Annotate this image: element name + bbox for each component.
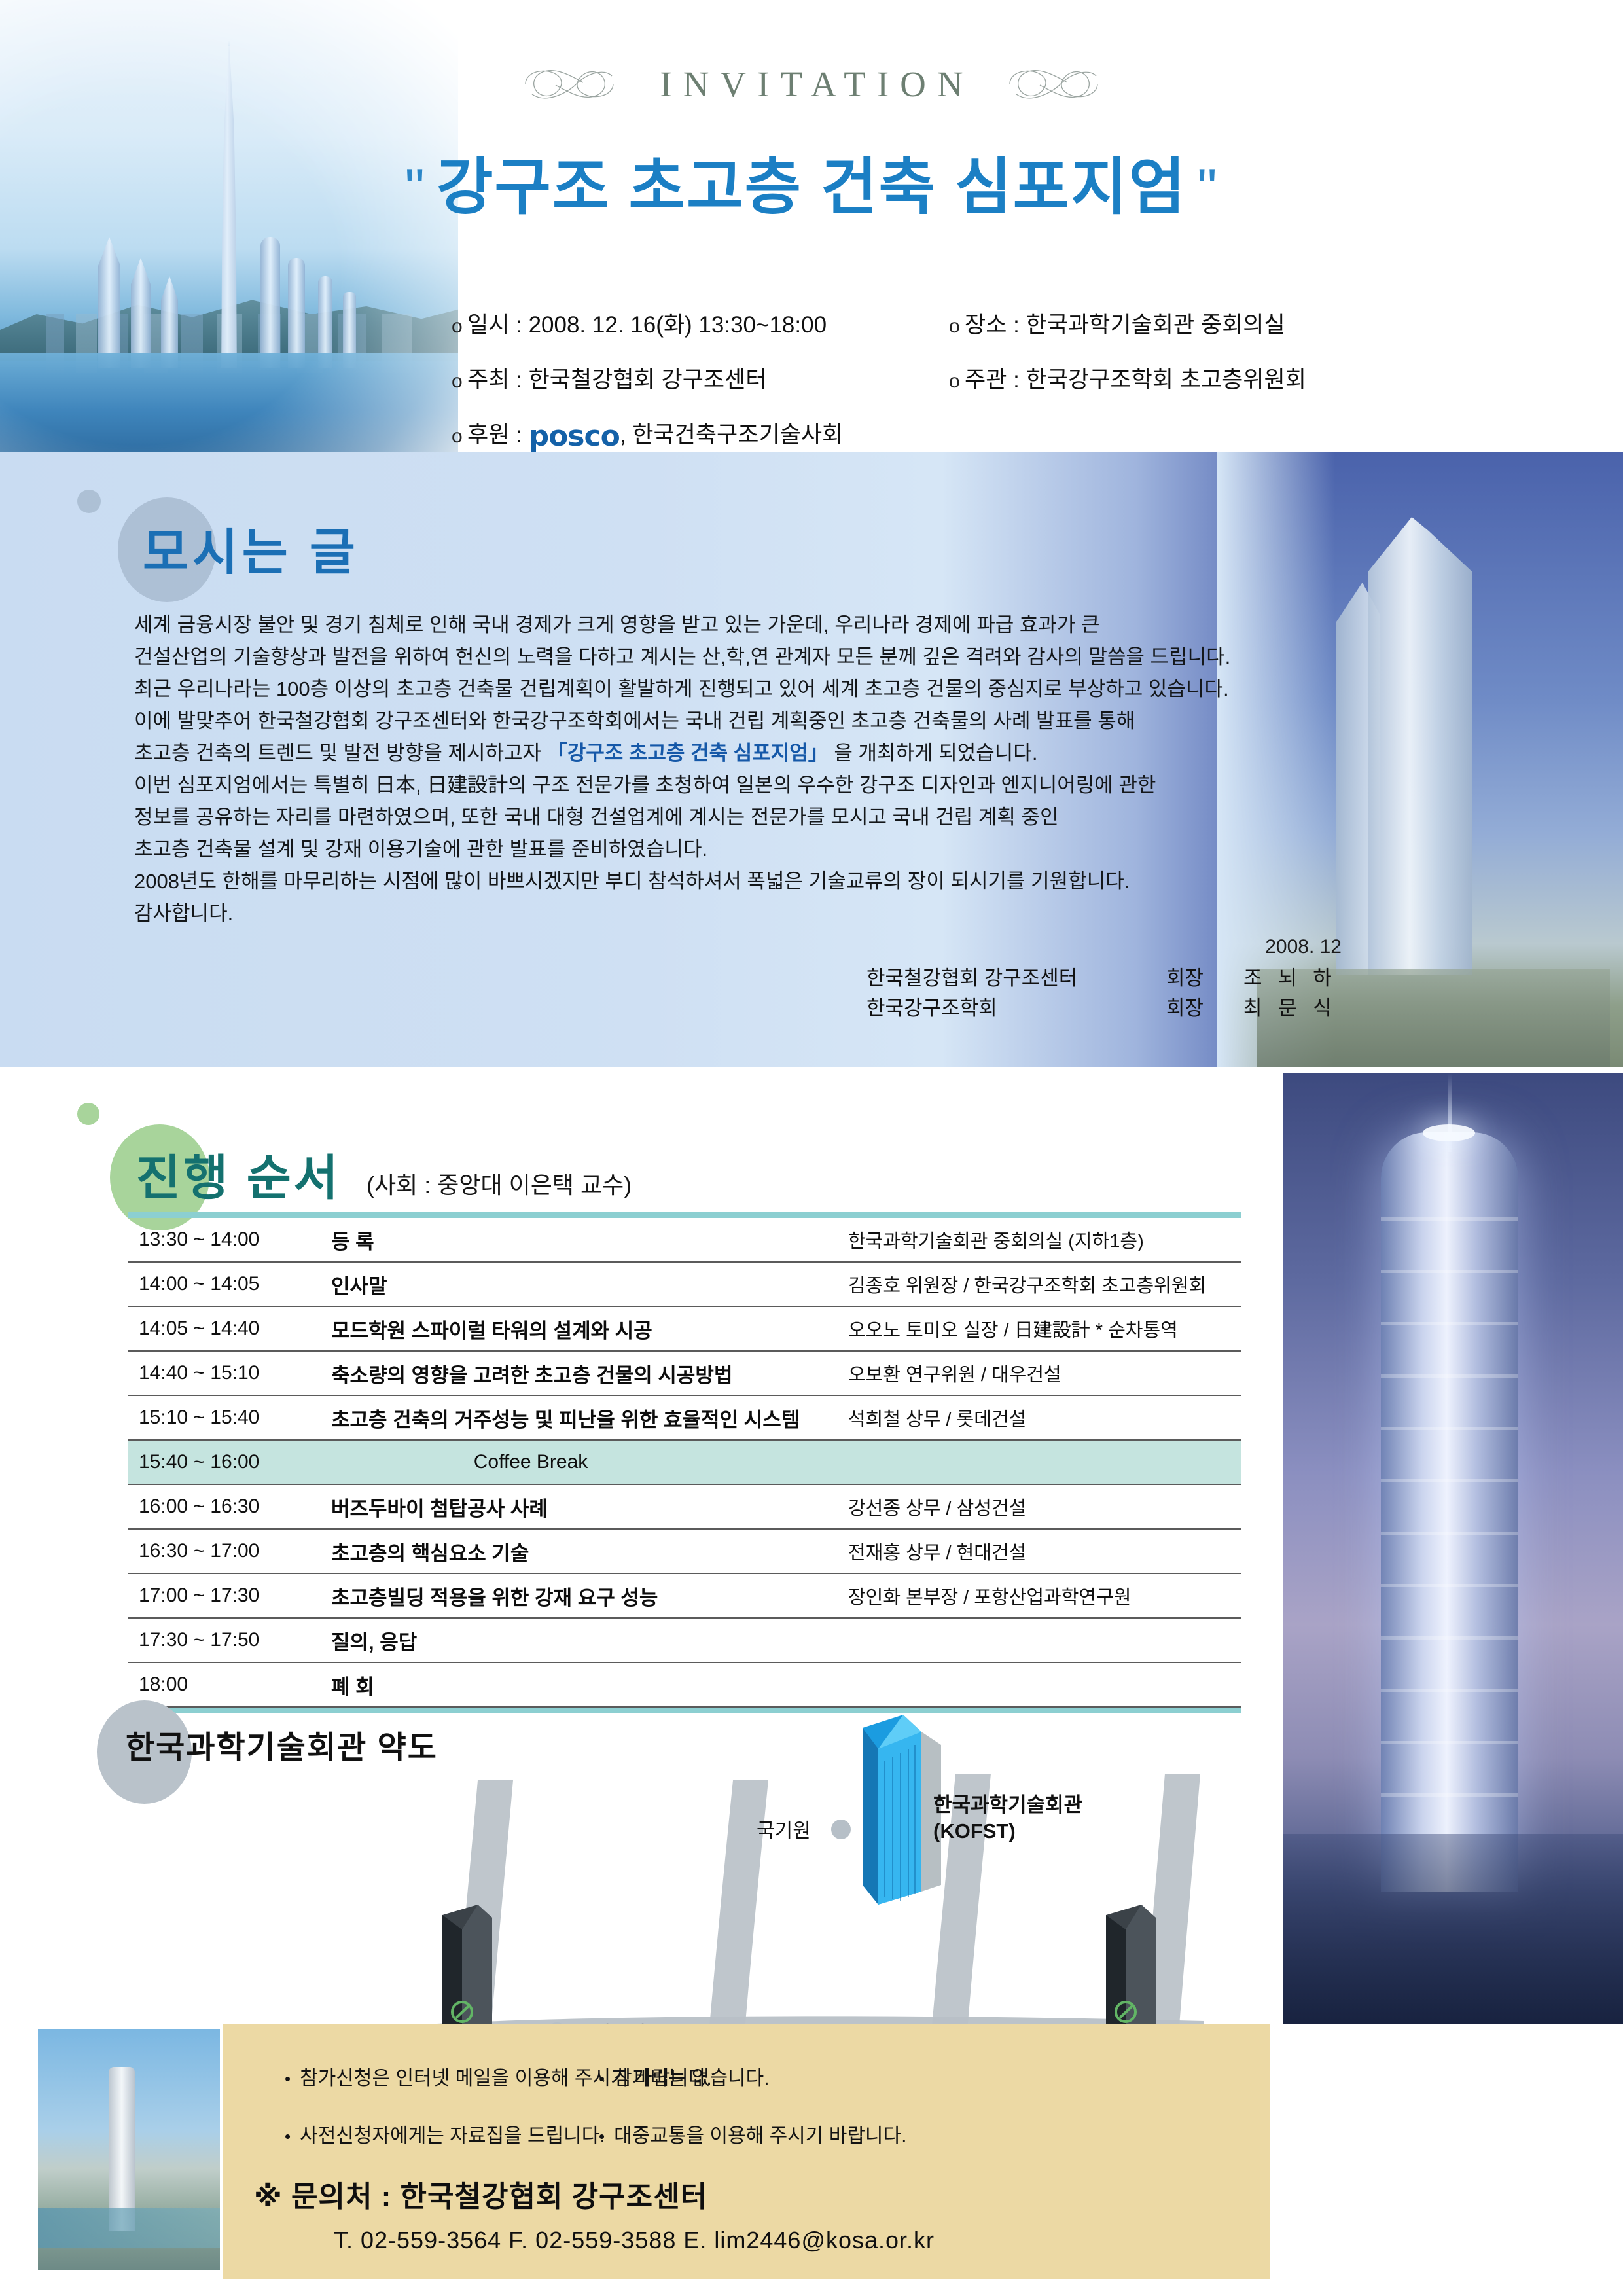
event-sponsor: ο후원 : posco, 한국건축구조기술사회 (452, 416, 843, 450)
event-info-row: ο후원 : posco, 한국건축구조기술사회 (452, 416, 1564, 450)
row-time: 15:40 ~ 16:00 (128, 1451, 331, 1473)
greeting-paragraph: 건설산업의 기술향상과 발전을 위하여 헌신의 노력을 다하고 계시는 산,학,… (134, 641, 1266, 673)
greeting-signature: 2008. 12 한국철강협회 강구조센터 회장 조 뇌 하 한국강구조학회 회… (866, 936, 1342, 1024)
table-row: 15:10 ~ 15:40 초고층 건축의 거주성능 및 피난을 위한 효율적인… (128, 1396, 1241, 1441)
event-datetime: ο일시 : 2008. 12. 16(화) 13:30~18:00 (452, 306, 949, 340)
program-dot-decor (77, 1103, 99, 1125)
symposium-name-highlight: 「강구조 초고층 건축 심포지엄」 (547, 742, 829, 764)
table-row-coffee-break: 15:40 ~ 16:00 Coffee Break (128, 1441, 1241, 1485)
row-time: 14:00 ~ 14:05 (128, 1273, 331, 1295)
invitation-word: INVITATION (649, 63, 974, 105)
footer-note-row: 참가신청은 인터넷 메일을 이용해 주시기 바랍니다. 참가비는 없습니다. (285, 2062, 1201, 2090)
event-host: ο주최 : 한국철강협회 강구조센터 (452, 361, 949, 395)
bullet-icon: ο (949, 370, 965, 393)
row-speaker: 김종호 위원장 / 한국강구조학회 초고층위원회 (848, 1270, 1241, 1298)
row-speaker: 한국과학기술회관 중회의실 (지하1층) (848, 1226, 1241, 1253)
contact-details: T. 02-559-3564 F. 02-559-3588 E. lim2446… (334, 2227, 935, 2254)
greeting-paragraph: 최근 우리나라는 100층 이상의 초고층 건축물 건립계획이 활발하게 진행되… (134, 673, 1266, 705)
title-open-quote: " (394, 158, 437, 221)
footer-note: 사전신청자에게는 자료집을 드립니다. (285, 2119, 599, 2148)
event-info-row: ο일시 : 2008. 12. 16(화) 13:30~18:00 ο장소 : … (452, 306, 1564, 340)
header-banner: INVITATION "강구조 초고층 건축 심포지엄" ο일시 : 2008.… (0, 0, 1623, 452)
posco-logo: posco (529, 420, 620, 452)
event-info-row: ο주최 : 한국철강협회 강구조센터 ο주관 : 한국강구조학회 초고층위원회 (452, 361, 1564, 395)
program-title: 진행 순서 (136, 1139, 341, 1209)
row-topic: 초고층의 핵심요소 기술 (331, 1537, 848, 1566)
title-close-quote: " (1186, 158, 1229, 221)
table-row: 14:00 ~ 14:05 인사말 김종호 위원장 / 한국강구조학회 초고층위… (128, 1263, 1241, 1307)
row-topic: 축소량의 영향을 고려한 초고층 건물의 시공방법 (331, 1359, 848, 1388)
row-topic: 모드학원 스파이럴 타워의 설계와 시공 (331, 1314, 848, 1344)
footer-info-box: 참가신청은 인터넷 메일을 이용해 주시기 바랍니다. 참가비는 없습니다. 사… (223, 2024, 1270, 2279)
row-speaker: 장인화 본부장 / 포항산업과학연구원 (848, 1582, 1241, 1609)
row-speaker: 오오노 토미오 실장 / 日建設計 * 순차통역 (848, 1315, 1241, 1342)
greeting-paragraph: 감사합니다. (134, 897, 1266, 929)
row-topic: 인사말 (331, 1270, 848, 1299)
page-title: "강구조 초고층 건축 심포지엄" (0, 137, 1623, 226)
footer-notes: 참가신청은 인터넷 메일을 이용해 주시기 바랍니다. 참가비는 없습니다. 사… (285, 2062, 1201, 2177)
table-row: 16:30 ~ 17:00 초고층의 핵심요소 기술 전재홍 상무 / 현대건설 (128, 1530, 1241, 1574)
event-organizer: ο주관 : 한국강구조학회 초고층위원회 (949, 361, 1306, 395)
event-venue: ο장소 : 한국과학기술회관 중회의실 (949, 306, 1285, 340)
greeting-dot-decor (77, 490, 101, 513)
row-topic: 초고층 건축의 거주성능 및 피난을 위한 효율적인 시스템 (331, 1403, 848, 1433)
bullet-icon: ο (452, 315, 467, 338)
row-time: 16:00 ~ 16:30 (128, 1496, 331, 1518)
row-topic: 초고층빌딩 적용을 위한 강재 요구 성능 (331, 1581, 848, 1611)
table-row: 14:05 ~ 14:40 모드학원 스파이럴 타워의 설계와 시공 오오노 토… (128, 1307, 1241, 1352)
table-row: 14:40 ~ 15:10 축소량의 영향을 고려한 초고층 건물의 시공방법 … (128, 1352, 1241, 1396)
map-label-kukkiwon: 국기원 (757, 1814, 811, 1843)
bullet-icon: ο (949, 315, 965, 338)
row-time: 16:30 ~ 17:00 (128, 1540, 331, 1562)
greeting-paragraph-highlight: 초고층 건축의 트렌드 및 발전 방향을 제시하고자 「강구조 초고층 건축 심… (134, 737, 1266, 769)
greeting-paragraph: 초고층 건축물 설계 및 강재 이용기술에 관한 발표를 준비하였습니다. (134, 833, 1266, 865)
row-topic: 등 록 (331, 1225, 848, 1255)
row-time: 17:00 ~ 17:30 (128, 1585, 331, 1607)
row-topic: 버즈두바이 첨탑공사 사례 (331, 1492, 848, 1522)
greeting-paragraph: 2008년도 한해를 마무리하는 시점에 많이 바쁘시겠지만 부디 참석하셔서 … (134, 865, 1266, 897)
greeting-body: 세계 금융시장 불안 및 경기 침체로 인해 국내 경제가 크게 영향을 받고 … (134, 609, 1266, 929)
greeting-title: 모시는 글 (143, 512, 359, 584)
table-row: 13:30 ~ 14:00 등 록 한국과학기술회관 중회의실 (지하1층) (128, 1218, 1241, 1263)
row-topic: Coffee Break (331, 1451, 848, 1473)
row-time: 14:05 ~ 14:40 (128, 1318, 331, 1340)
greeting-paragraph: 이에 발맞추어 한국철강협회 강구조센터와 한국강구조학회에서는 국내 건립 계… (134, 705, 1266, 737)
signature-line: 한국철강협회 강구조센터 회장 조 뇌 하 (866, 963, 1342, 994)
row-time: 13:30 ~ 14:00 (128, 1229, 331, 1251)
row-time: 14:40 ~ 15:10 (128, 1362, 331, 1384)
map-label-venue-line2: (KOFST) (933, 1820, 1016, 1843)
greeting-paragraph: 정보를 공유하는 자리를 마련하였으며, 또한 국내 대형 건설업계에 계시는 … (134, 801, 1266, 833)
invitation-heading: INVITATION (0, 60, 1623, 111)
row-speaker: 석희철 상무 / 롯데건설 (848, 1404, 1241, 1431)
table-row: 16:00 ~ 16:30 버즈두바이 첨탑공사 사례 강선종 상무 / 삼성건… (128, 1485, 1241, 1530)
map-dot-kukkiwon (831, 1820, 851, 1839)
row-time: 15:10 ~ 15:40 (128, 1407, 331, 1429)
footer-note: 참가신청은 인터넷 메일을 이용해 주시기 바랍니다. (285, 2062, 599, 2090)
map-label-venue-line1: 한국과학기술회관 (933, 1788, 1082, 1818)
row-speaker: 오보환 연구위원 / 대우건설 (848, 1359, 1241, 1387)
footer-note: 참가비는 없습니다. (599, 2062, 770, 2090)
flourish-left-icon (520, 60, 618, 107)
row-speaker: 전재홍 상무 / 현대건설 (848, 1537, 1241, 1565)
program-table: 13:30 ~ 14:00 등 록 한국과학기술회관 중회의실 (지하1층) 1… (128, 1212, 1241, 1713)
footer-note: 대중교통을 이용해 주시기 바랍니다. (599, 2119, 906, 2148)
kofst-building-icon (863, 1715, 941, 1905)
row-topic: 질의, 응답 (331, 1626, 848, 1655)
title-text: 강구조 초고층 건축 심포지엄 (437, 152, 1186, 221)
table-row: 17:00 ~ 17:30 초고층빌딩 적용을 위한 강재 요구 성능 장인화 … (128, 1574, 1241, 1619)
bullet-icon: ο (452, 370, 467, 393)
row-speaker: 강선종 상무 / 삼성건설 (848, 1493, 1241, 1520)
signature-date: 2008. 12 (866, 936, 1342, 958)
table-top-rule (128, 1212, 1241, 1218)
event-info-block: ο일시 : 2008. 12. 16(화) 13:30~18:00 ο장소 : … (452, 306, 1564, 452)
signature-line: 한국강구조학회 회장 최 문 식 (866, 994, 1342, 1024)
flourish-right-icon (1005, 60, 1103, 107)
footer-note-row: 사전신청자에게는 자료집을 드립니다. 대중교통을 이용해 주시기 바랍니다. (285, 2119, 1201, 2148)
greeting-paragraph: 세계 금융시장 불안 및 경기 침체로 인해 국내 경제가 크게 영향을 받고 … (134, 609, 1266, 641)
program-moderator: (사회 : 중앙대 이은택 교수) (366, 1166, 632, 1200)
table-row: 17:30 ~ 17:50 질의, 응답 (128, 1619, 1241, 1663)
footer-thumbnail-image (38, 2029, 220, 2270)
bullet-icon: ο (452, 425, 467, 448)
greeting-paragraph: 이번 심포지엄에서는 특별히 日本, 日建設計의 구조 전문가를 초청하여 일본… (134, 769, 1266, 801)
night-tower-image (1283, 1073, 1623, 2024)
row-time: 17:30 ~ 17:50 (128, 1629, 331, 1651)
contact-heading: ※ 문의처 : 한국철강협회 강구조센터 (254, 2173, 707, 2215)
